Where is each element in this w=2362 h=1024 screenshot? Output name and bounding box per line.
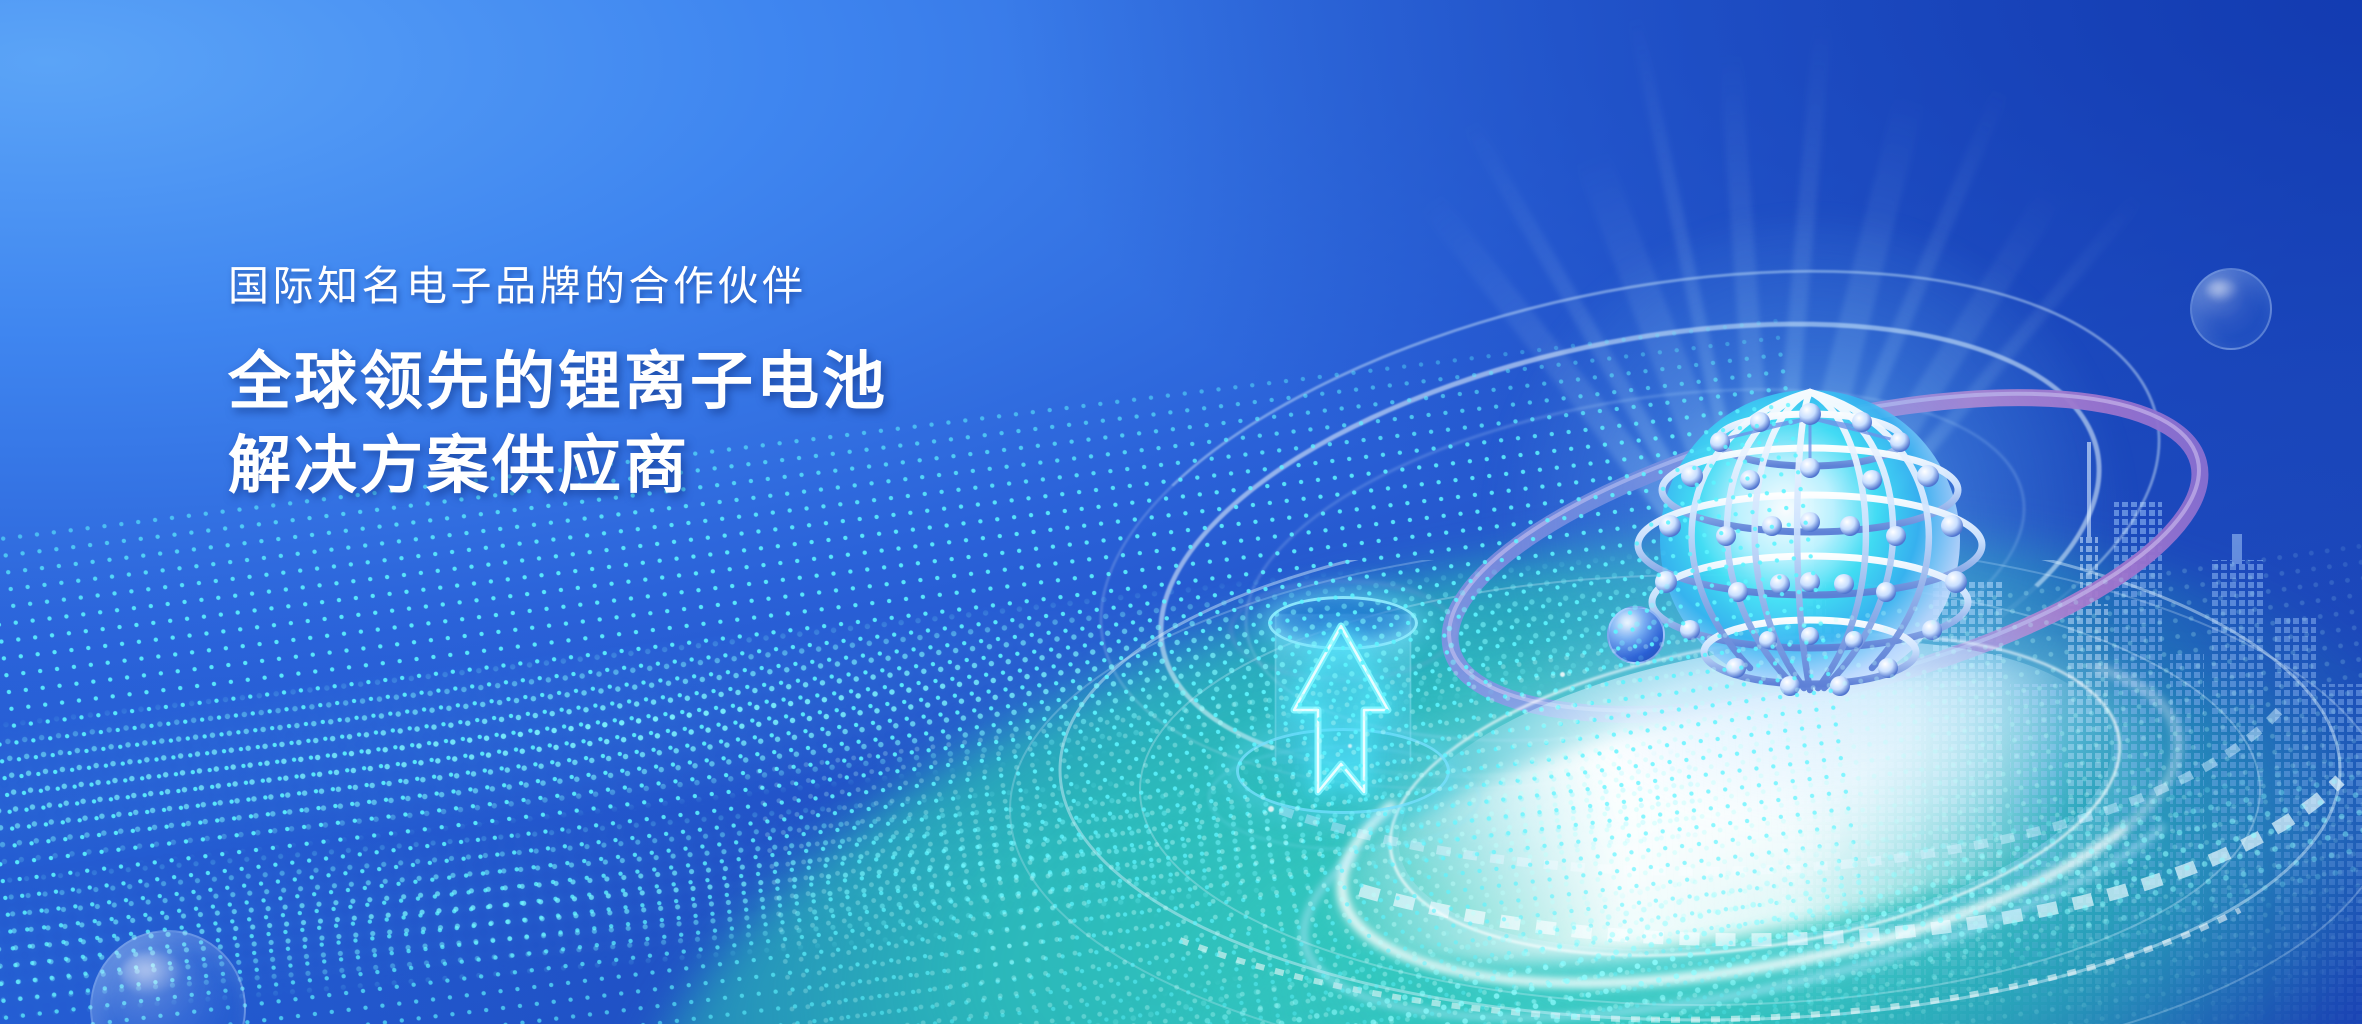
banner-eyebrow: 国际知名电子品牌的合作伙伴 — [228, 262, 1128, 311]
hero-copy: 国际知名电子品牌的合作伙伴 全球领先的锂离子电池 解决方案供应商 — [228, 262, 1128, 509]
sparkle-dot — [1268, 806, 1274, 812]
sparkle-dot — [1348, 744, 1352, 748]
hero-banner: 国际知名电子品牌的合作伙伴 全球领先的锂离子电池 解决方案供应商 — [0, 0, 2362, 1024]
sparkle-dot — [1560, 672, 1565, 677]
headline-line-1: 全球领先的锂离子电池 — [228, 341, 1128, 425]
headline-line-2: 解决方案供应商 — [228, 425, 1128, 509]
glass-bubble-icon — [2190, 268, 2272, 350]
banner-headline: 全球领先的锂离子电池 解决方案供应商 — [228, 341, 1128, 509]
